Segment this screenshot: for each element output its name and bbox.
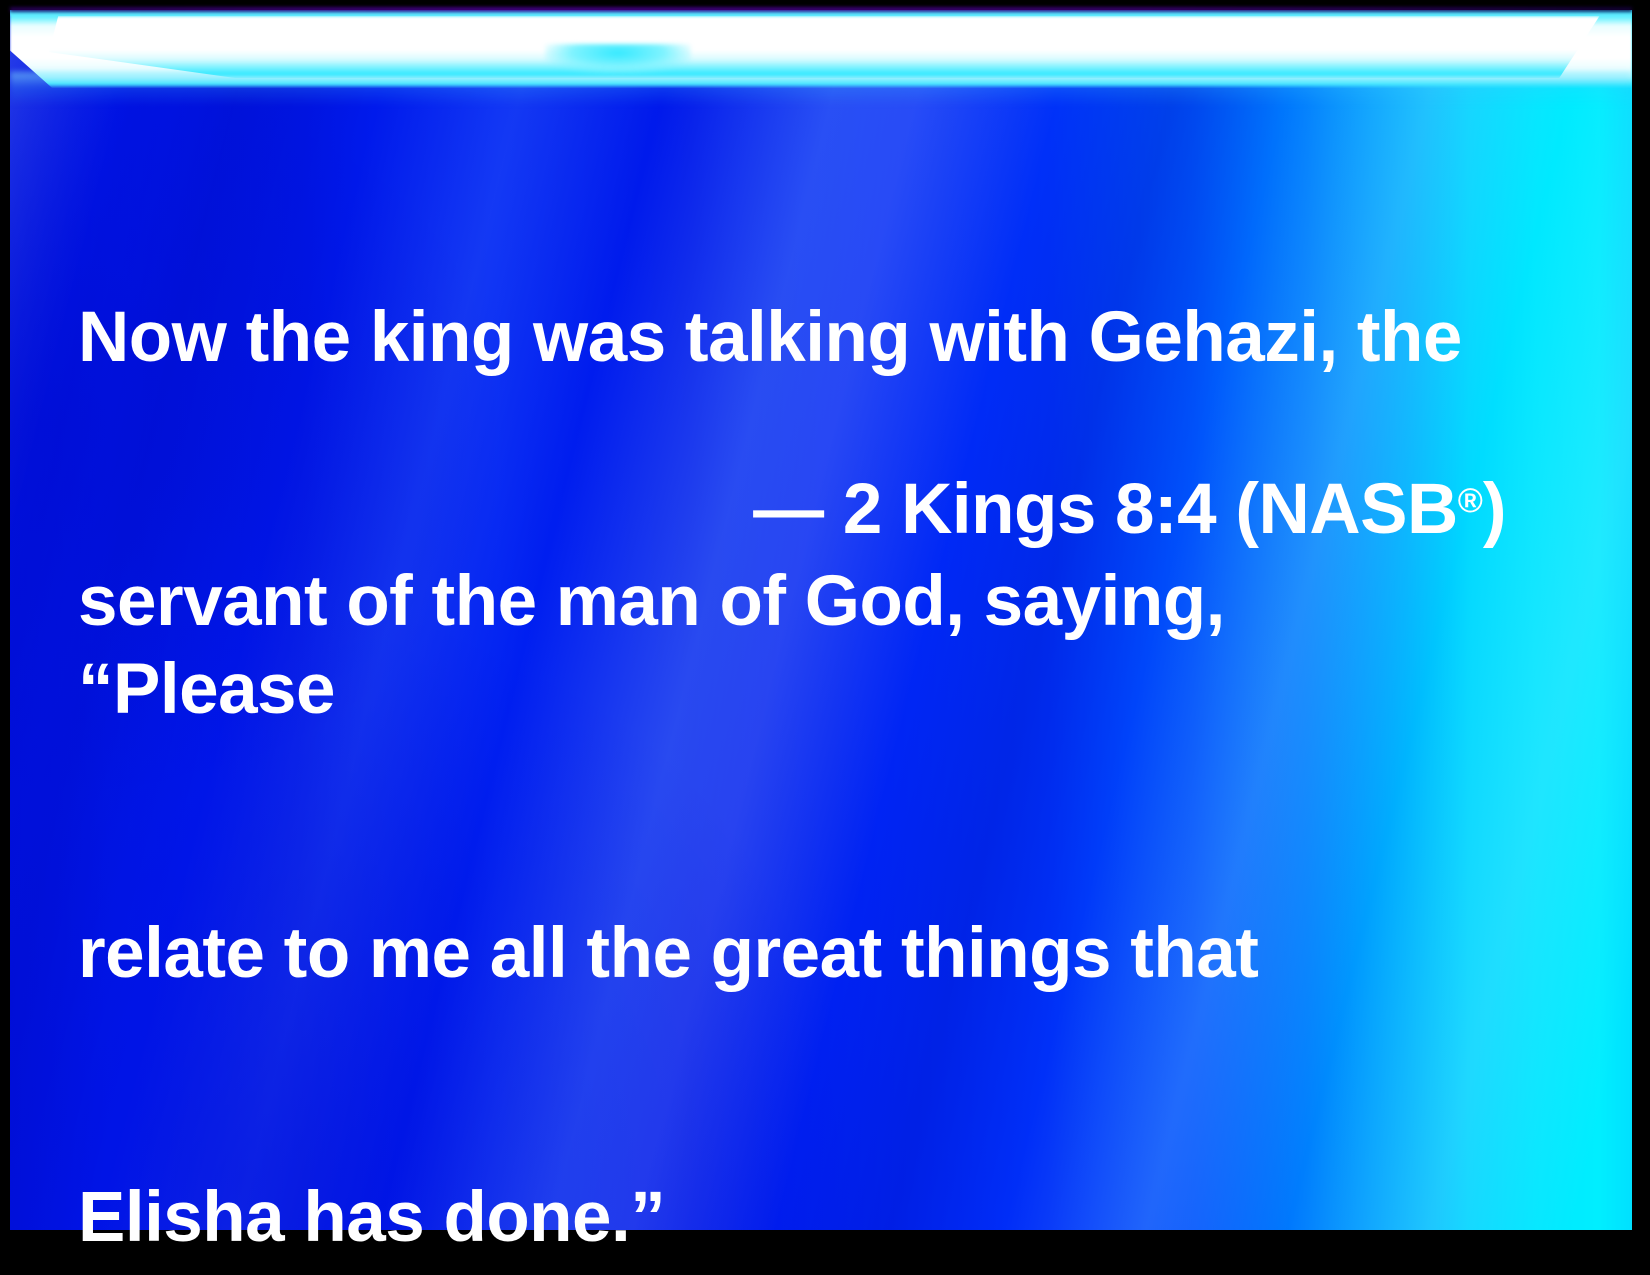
top-violet-hairline — [10, 7, 1632, 12]
attribution-reference: 2 Kings 8:4 (NASB — [843, 470, 1458, 549]
verse-line-4: Elisha has done.” — [78, 1174, 1498, 1262]
bible-verse-slide: Now the king was talking with Gehazi, th… — [0, 0, 1650, 1275]
attribution-em-dash: — — [753, 470, 843, 549]
registered-trademark-icon: ® — [1458, 482, 1483, 520]
attribution-closing-paren: ) — [1483, 470, 1506, 549]
verse-line-2: servant of the man of God, saying, “Plea… — [78, 558, 1498, 734]
verse-line-3: relate to me all the great things that — [78, 910, 1498, 998]
verse-text: Now the king was talking with Gehazi, th… — [78, 118, 1498, 1275]
verse-line-1: Now the king was talking with Gehazi, th… — [78, 294, 1498, 382]
verse-attribution: — 2 Kings 8:4 (NASB®) — [78, 460, 1506, 551]
